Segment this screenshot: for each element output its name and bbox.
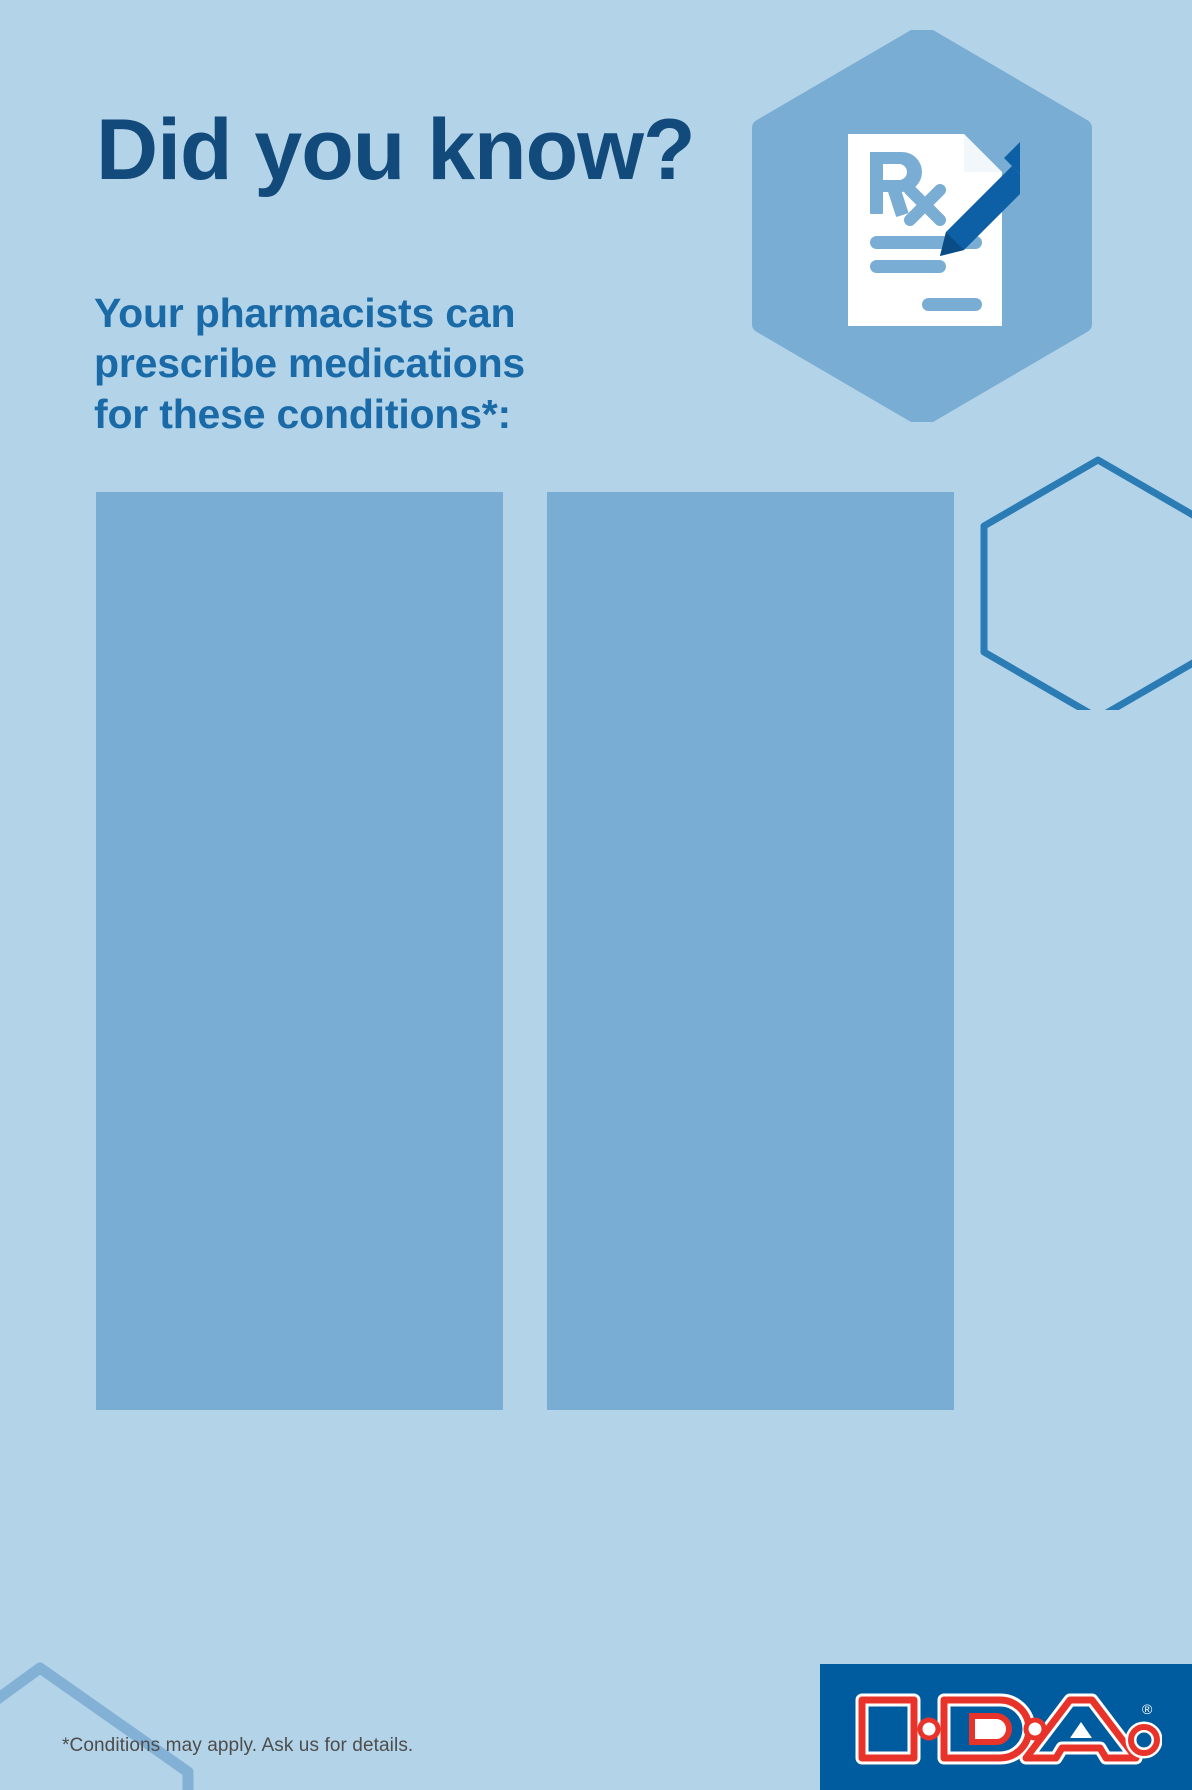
subtitle-line-1: Your pharmacists can: [94, 288, 525, 338]
page-title: Did you know?: [96, 108, 695, 192]
hexagon-outline-bottom-left: [0, 1620, 320, 1790]
subtitle-line-3: for these conditions*:: [94, 389, 525, 439]
conditions-list-left-panel[interactable]: [96, 492, 503, 1410]
conditions-list-right-panel[interactable]: [547, 492, 954, 1410]
subtitle-line-2: prescribe medications: [94, 338, 525, 388]
ida-logo[interactable]: ®: [820, 1664, 1192, 1790]
footnote-disclaimer: *Conditions may apply. Ask us for detail…: [62, 1735, 413, 1757]
registered-mark: ®: [1142, 1701, 1153, 1717]
subtitle-block: Your pharmacists can prescribe medicatio…: [94, 288, 525, 439]
poster-canvas: Did you know? Your pharmacists can presc…: [0, 0, 1192, 1790]
rx-prescription-pencil-icon: [752, 30, 1092, 422]
ida-logo-mark: ®: [852, 1692, 1162, 1766]
prescription-document-icon: [844, 130, 1020, 330]
conditions-panels: [96, 492, 954, 1410]
hexagon-outline-right: [948, 430, 1192, 710]
